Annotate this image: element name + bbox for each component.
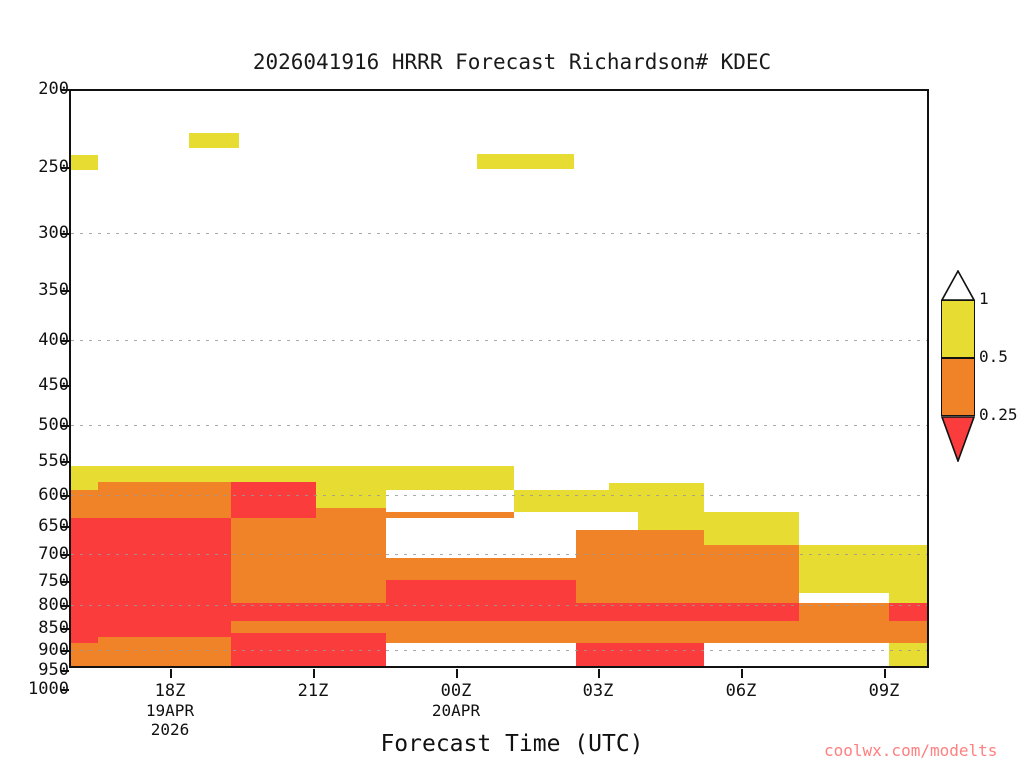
y-axis-tick-mark: [61, 689, 69, 691]
heatmap-cell: [799, 643, 889, 668]
y-axis-tick-mark: [61, 670, 69, 672]
y-axis-tick-mark: [61, 290, 69, 292]
y-axis-tick-mark: [61, 461, 69, 463]
x-axis-tick-label: 06Z: [681, 682, 801, 701]
gridline: [71, 554, 927, 555]
y-axis-tick-mark: [61, 605, 69, 607]
x-axis-tick-mark: [313, 669, 315, 678]
y-axis-tick-mark: [61, 340, 69, 342]
colorbar-segment-orange: [941, 358, 975, 416]
x-axis-tick-mark: [741, 669, 743, 678]
richardson-number-colorbar: 10.50.25: [941, 300, 975, 460]
heatmap-cell: [98, 482, 231, 518]
y-axis-tick-mark: [61, 89, 69, 91]
heatmap-cell: [386, 558, 576, 580]
heatmap-cell: [638, 643, 704, 668]
x-axis-tick-label: 09Z: [824, 682, 944, 701]
x-axis-tick-label: 03Z: [538, 682, 658, 701]
heatmap-cell: [576, 621, 704, 643]
y-axis-tick-mark: [61, 628, 69, 630]
heatmap-cell: [704, 545, 799, 575]
heatmap-cell: [704, 512, 799, 545]
gridline: [71, 340, 927, 341]
y-axis-tick-mark: [61, 650, 69, 652]
heatmap-cell: [386, 643, 576, 668]
watermark: coolwx.com/modelts: [824, 741, 997, 760]
heatmap-cell: [71, 643, 98, 668]
heatmap-cell: [576, 558, 704, 603]
heatmap-cell: [231, 558, 386, 603]
y-axis-tick-mark: [61, 581, 69, 583]
heatmap-cell: [799, 545, 889, 575]
x-axis-tick-mark: [598, 669, 600, 678]
heatmap-cell: [704, 575, 799, 603]
heatmap-cell: [316, 490, 386, 508]
x-axis-tick-sublabel: 20APR: [396, 701, 516, 720]
colorbar-arrow-up-outline: [941, 270, 975, 301]
y-axis-tick-mark: [61, 495, 69, 497]
gridline: [71, 233, 927, 234]
heatmap-cell: [704, 643, 799, 668]
heatmap-cell: [576, 643, 638, 668]
plot-area: [69, 89, 929, 668]
heatmap-cell: [71, 155, 98, 170]
heatmap-cell: [231, 633, 386, 643]
x-axis-tick-sublabel: 19APR: [110, 701, 230, 720]
x-axis-tick-mark: [884, 669, 886, 678]
y-axis-tick-mark: [61, 385, 69, 387]
heatmap-cell: [799, 621, 889, 643]
heatmap-cell: [576, 512, 638, 530]
y-axis-tick-mark: [61, 167, 69, 169]
heatmap-cell: [71, 558, 231, 603]
y-axis-tick-mark: [61, 554, 69, 556]
heatmap-cell: [189, 133, 239, 148]
heatmap-cell: [799, 575, 889, 593]
heatmap-cell: [889, 575, 927, 603]
x-axis-tick-mark: [456, 669, 458, 678]
gridline: [71, 650, 927, 651]
y-axis-tick-mark: [61, 526, 69, 528]
heatmap-cell: [386, 518, 576, 558]
heatmap-cell: [889, 643, 927, 668]
x-axis-tick-mark: [170, 669, 172, 678]
heatmap-cell: [98, 637, 231, 668]
heatmap-cell: [477, 154, 574, 169]
heatmap-cell: [799, 593, 889, 603]
colorbar-arrow-down-icon: [941, 416, 975, 462]
x-axis-tick-label: 21Z: [253, 682, 373, 701]
page-title: 2026041916 HRRR Forecast Richardson# KDE…: [0, 50, 1024, 74]
heatmap-cells: [71, 91, 927, 666]
gridline: [71, 425, 927, 426]
colorbar-tick-label: 0.25: [979, 407, 1018, 423]
heatmap-cell: [704, 621, 799, 643]
heatmap-cell: [386, 633, 576, 643]
y-axis-tick-mark: [61, 425, 69, 427]
heatmap-cell: [231, 482, 316, 518]
y-axis: 2002503003504004505005506006507007508008…: [0, 0, 69, 768]
x-axis-tick-label: 00Z20APR: [396, 682, 516, 720]
colorbar-tick-label: 0.5: [979, 349, 1008, 365]
gridline: [71, 605, 927, 606]
heatmap-cell: [889, 545, 927, 575]
heatmap-cell: [514, 490, 609, 512]
heatmap-cell: [316, 508, 386, 518]
heatmap-cell: [231, 518, 386, 558]
colorbar-tick-label: 1: [979, 291, 989, 307]
heatmap-cell: [71, 518, 231, 558]
heatmap-cell: [386, 580, 576, 603]
heatmap-cell: [316, 643, 386, 668]
heatmap-cell: [889, 621, 927, 643]
chart-canvas: 2026041916 HRRR Forecast Richardson# KDE…: [0, 0, 1024, 768]
heatmap-cell: [638, 503, 704, 530]
heatmap-cell: [799, 512, 927, 545]
colorbar-segment-yellow: [941, 300, 975, 358]
heatmap-cell: [231, 643, 316, 668]
heatmap-cell: [231, 621, 386, 633]
heatmap-cell: [386, 621, 576, 633]
gridline: [71, 495, 927, 496]
y-axis-tick-mark: [61, 233, 69, 235]
